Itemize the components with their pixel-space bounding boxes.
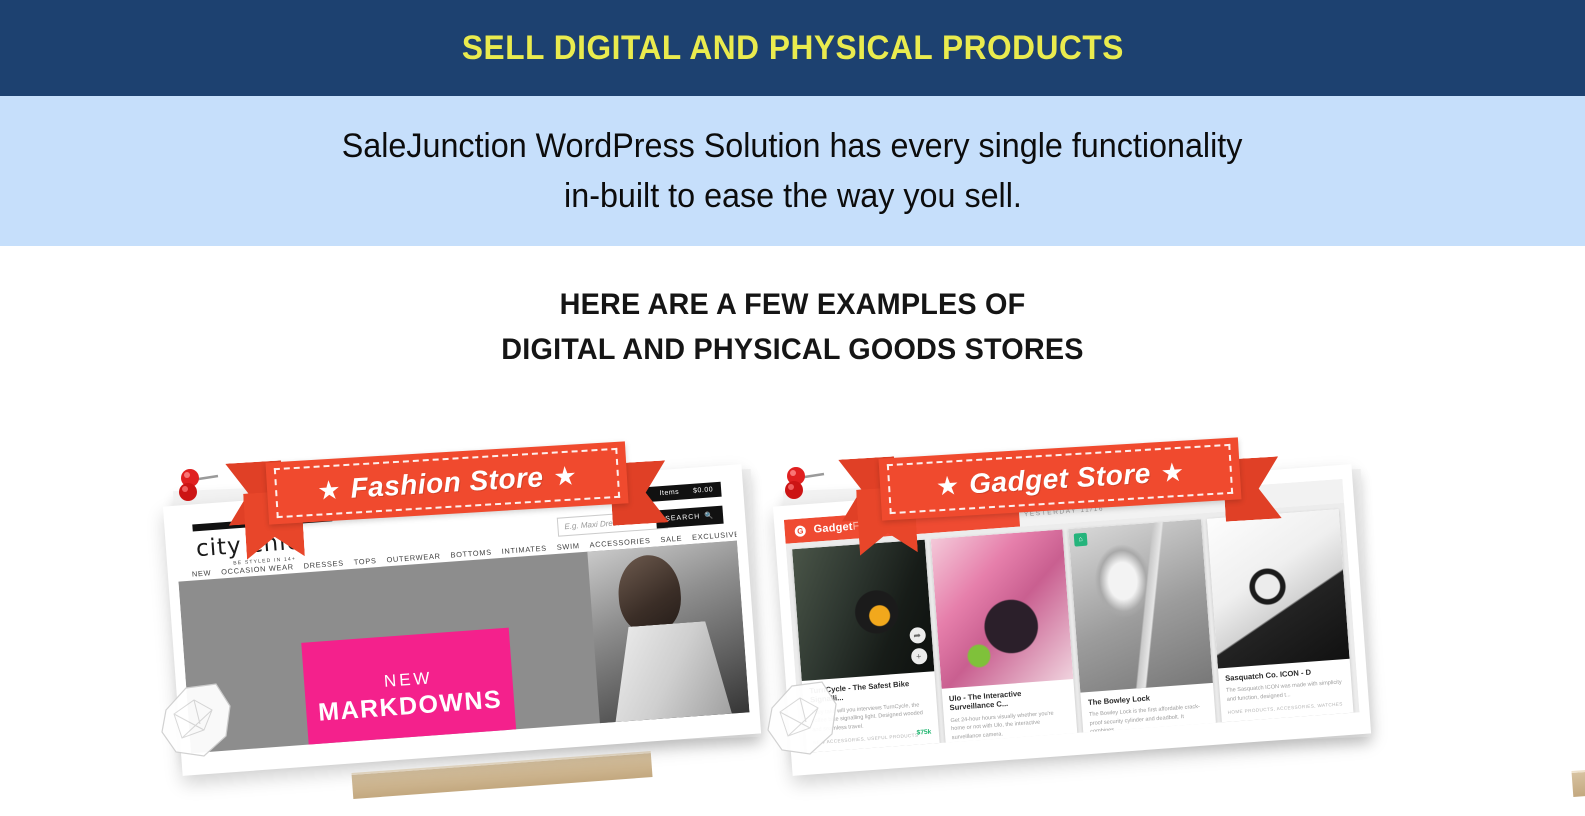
star-icon-left: ★ [317, 476, 342, 503]
search-button[interactable]: SEARCH 🔍 [656, 506, 724, 529]
promo-large-label: MARKDOWNS [317, 685, 503, 727]
product-price: $75k [916, 729, 931, 737]
intro-line-1: SaleJunction WordPress Solution has ever… [342, 125, 1243, 168]
product-price: $119 [1195, 736, 1210, 744]
crumpled-paper-decoration [160, 680, 234, 760]
promo-small-label: NEW [383, 668, 433, 692]
product-body: Ulo - The Interactive Surveillance C... … [941, 679, 1079, 753]
cardboard-strip [1571, 749, 1585, 797]
ribbon-gadget-store: ★ Gadget Store ★ [880, 448, 1240, 510]
product-thumbnail-watch [1206, 509, 1349, 668]
intro-line-2: in-built to ease the way you sell. [564, 175, 1022, 218]
nav-item-new[interactable]: NEW [192, 568, 212, 578]
product-description: The Bowley Lock is the first affordable … [1089, 703, 1209, 737]
share-icon[interactable]: ➦ [909, 627, 926, 644]
examples-heading-line-2: DIGITAL AND PHYSICAL GOODS STORES [32, 327, 1554, 372]
search-icon: 🔍 [704, 511, 714, 520]
star-icon-right: ★ [1160, 459, 1185, 486]
ribbon-body: ★ Gadget Store ★ [878, 437, 1241, 520]
home-badge-icon: ⌂ [1074, 533, 1088, 547]
store-example-gadget[interactable]: G GadgetFlow HOME YESTERDAY 11/16 [762, 430, 1382, 810]
product-thumbnail-ulo [930, 529, 1073, 688]
product-description: Get 24-hour hours visually whether you'r… [950, 708, 1070, 742]
page-header-bar: SELL DIGITAL AND PHYSICAL PRODUCTS [0, 0, 1585, 96]
product-actions[interactable]: ➦ + [909, 627, 928, 665]
promo-page: SELL DIGITAL AND PHYSICAL PRODUCTS SaleJ… [0, 0, 1585, 816]
star-icon-left: ★ [935, 472, 960, 499]
product-categories: HOME PRODUCTS, HOME ACCESSORIES, GADGETS… [953, 740, 1072, 754]
examples-heading-line-1: HERE ARE A FEW EXAMPLES OF [32, 282, 1554, 327]
store-example-fashion[interactable]: city chic BE STYLED IN 14+ 0 Items $0.00… [152, 430, 772, 810]
product-thumbnail-bike: ➦ + [792, 540, 934, 681]
product-price: $190 [1056, 742, 1071, 750]
ribbon-fashion-store: ★ Fashion Store ★ [267, 452, 627, 514]
nav-item-swim[interactable]: SWIM [556, 541, 580, 552]
intro-banner: SaleJunction WordPress Solution has ever… [0, 96, 1585, 246]
product-categories: HOME PRODUCTS, ACCESSORIES, WATCHES [1228, 701, 1347, 715]
product-body: The Bowley Lock The Bowley Lock is the f… [1080, 683, 1217, 753]
product-body: Sasquatch Co. ICON - D The Sasquatch ICO… [1217, 659, 1353, 723]
product-categories: HOME ACCESSORIES, HOME PRODUCTS, GADGETS… [1091, 734, 1210, 753]
nav-item-dresses[interactable]: DRESSES [303, 559, 344, 571]
store-examples-showcase: city chic BE STYLED IN 14+ 0 Items $0.00… [0, 400, 1585, 816]
examples-heading: HERE ARE A FEW EXAMPLES OF DIGITAL AND P… [0, 282, 1585, 372]
page-title: SELL DIGITAL AND PHYSICAL PRODUCTS [462, 29, 1124, 68]
nav-item-sale[interactable]: SALE [660, 534, 682, 545]
product-description: The Sasquatch ICON was made with simplic… [1226, 679, 1345, 704]
product-thumbnail-lock: ⌂ [1068, 519, 1212, 692]
hero-model-photo [587, 541, 749, 732]
promo-markdowns-panel[interactable]: NEW MARKDOWNS [301, 628, 517, 754]
pushpin-icon [782, 464, 826, 512]
product-card[interactable]: Sasquatch Co. ICON - D The Sasquatch ICO… [1206, 509, 1353, 722]
product-card[interactable]: Ulo - The Interactive Surveillance C... … [930, 529, 1079, 753]
nav-item-bottoms[interactable]: BOTTOMS [450, 548, 492, 560]
add-icon[interactable]: + [910, 648, 927, 665]
nav-item-tops[interactable]: TOPS [353, 556, 376, 567]
product-card[interactable]: ⌂ The Bowley Lock The Bowley Lock is the… [1068, 519, 1217, 753]
star-icon-right: ★ [553, 462, 578, 489]
pushpin-icon [176, 466, 220, 514]
crumpled-paper-decoration [766, 678, 840, 758]
search-button-label: SEARCH [665, 513, 701, 523]
ribbon-body: ★ Fashion Store ★ [265, 441, 628, 524]
cart-total: $0.00 [693, 486, 713, 494]
cart-label: Items [659, 489, 679, 497]
